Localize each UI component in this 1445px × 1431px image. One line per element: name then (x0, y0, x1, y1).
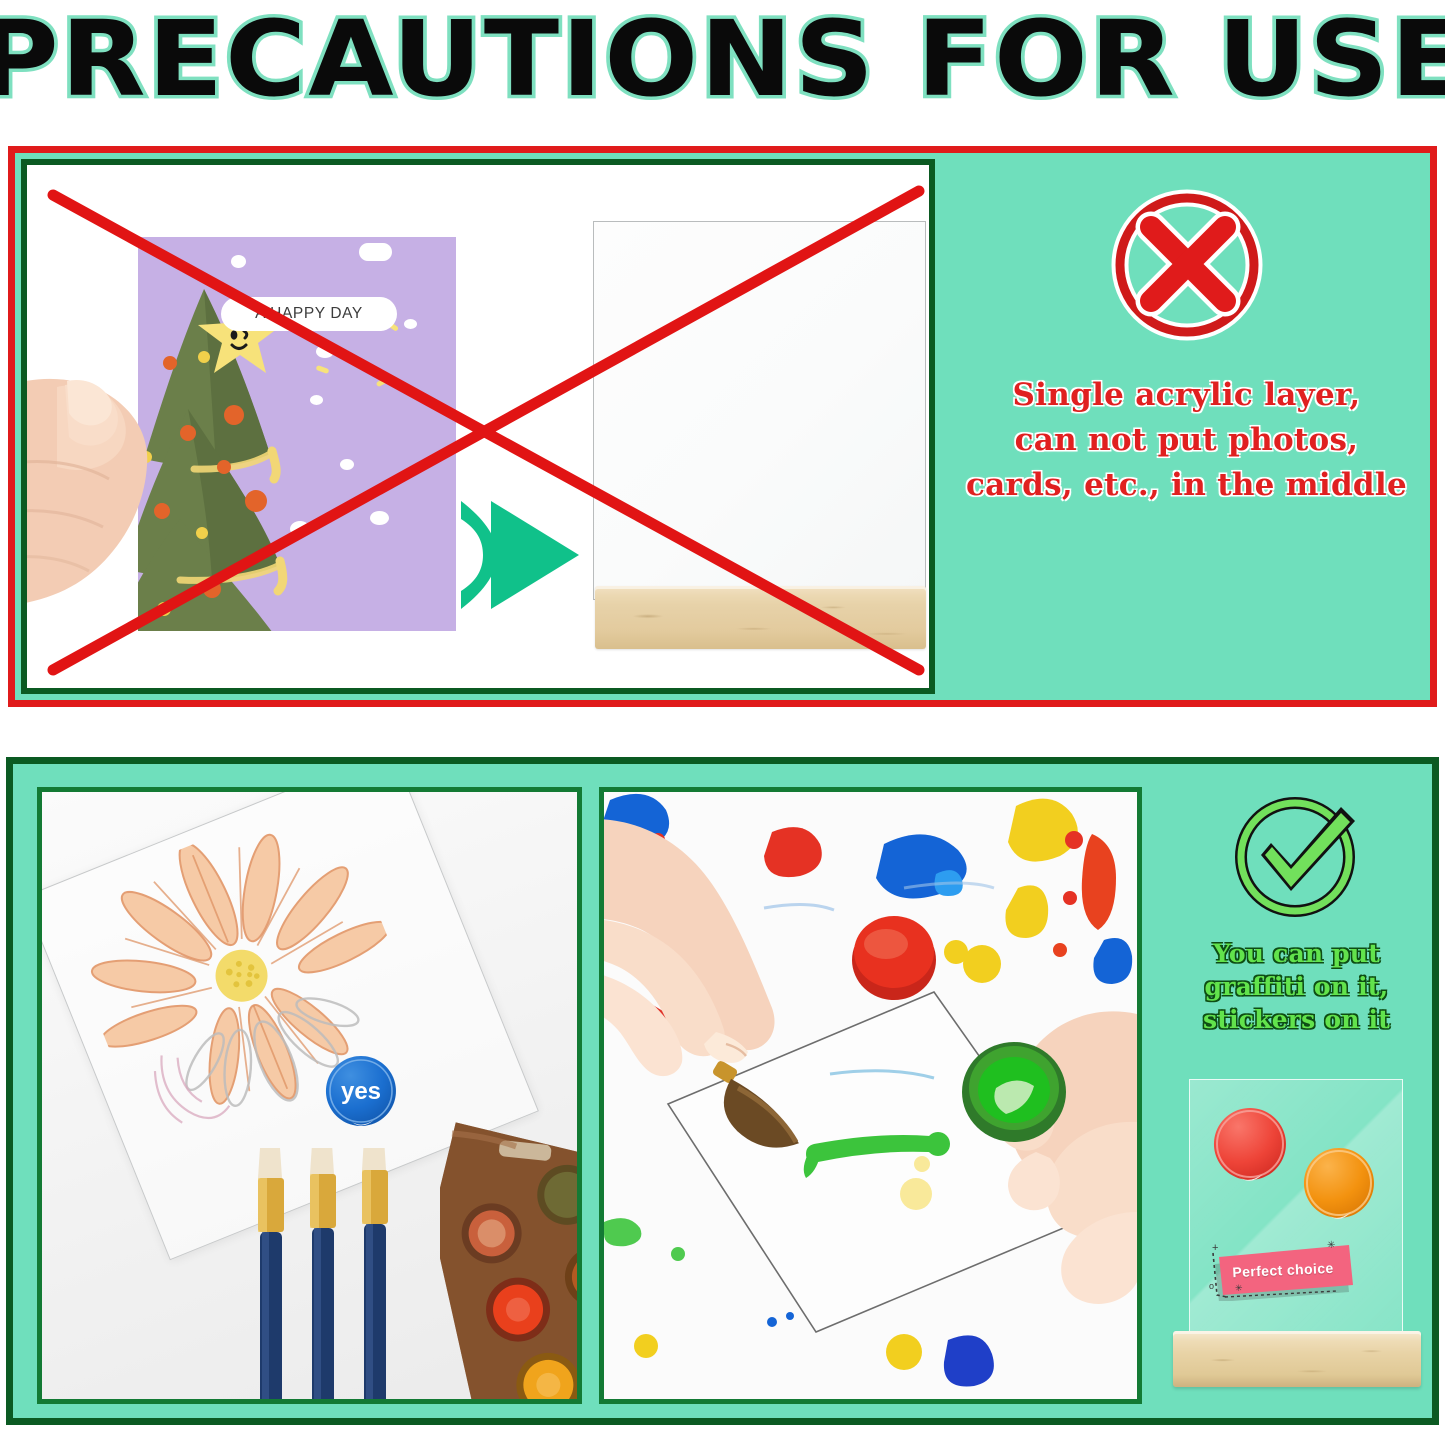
precaution-panel-positive: yes (6, 757, 1439, 1425)
painted-flower-acrylic-photo: yes (37, 787, 582, 1404)
circle-x-icon (1107, 185, 1267, 345)
paint-brushes (238, 1148, 410, 1404)
wooden-base (595, 586, 926, 649)
card-greeting-text: A HAPPY DAY (255, 305, 363, 323)
snowflake (370, 511, 389, 525)
snowflake (290, 521, 310, 537)
card-greeting-banner: A HAPPY DAY (221, 297, 397, 331)
negative-note-block: Single acrylic layer, can not put photos… (941, 159, 1432, 694)
negative-note-line-2: can not put photos, (966, 418, 1407, 463)
negative-note-line-1: Single acrylic layer, (966, 373, 1407, 418)
snowflake (310, 395, 323, 405)
orange-round-sticker (1301, 1145, 1377, 1221)
yes-sticker: yes (324, 1054, 398, 1128)
hand-holding-card (23, 337, 213, 617)
page-title: PRECAUTIONS FOR USE (0, 7, 1445, 111)
sticker-acrylic-stand: + o ✳ ✳ Perfect choice (1173, 1079, 1421, 1399)
negative-note-text: Single acrylic layer, can not put photos… (966, 373, 1407, 508)
negative-example-photo: A HAPPY DAY (21, 159, 935, 694)
positive-note-line-1: You can put (1203, 937, 1390, 970)
star-sparkle (316, 365, 330, 374)
positive-note-line-3: stickers on it (1203, 1003, 1390, 1036)
snowflake (316, 345, 334, 358)
perfect-choice-text: Perfect choice (1208, 1236, 1359, 1304)
left-hand (604, 819, 775, 1076)
hands-painting-photo (599, 787, 1142, 1404)
perfect-choice-sticker: + o ✳ ✳ Perfect choice (1209, 1239, 1357, 1301)
acrylic-sheet (593, 221, 926, 600)
page-header: PRECAUTIONS FOR USE (0, 0, 1445, 118)
positive-note-text: You can put graffiti on it, stickers on … (1203, 937, 1390, 1036)
precaution-panel-negative: A HAPPY DAY (8, 146, 1437, 707)
red-paint-pot (852, 916, 936, 1000)
acrylic-display-stand (593, 221, 926, 649)
snowflake (359, 243, 392, 261)
wooden-base (1173, 1331, 1421, 1387)
painting-scene (604, 792, 1137, 1399)
star-sparkle (376, 376, 392, 387)
snowflake (340, 459, 354, 470)
circle-check-icon (1221, 791, 1373, 931)
right-arrow-icon (461, 495, 591, 615)
snowflake (404, 319, 417, 329)
svg-text:yes: yes (341, 1078, 381, 1105)
red-round-sticker (1211, 1105, 1289, 1183)
watercolor-palette (440, 1110, 582, 1404)
negative-note-line-3: cards, etc., in the middle (966, 463, 1407, 508)
positive-note-line-2: graffiti on it, (1203, 970, 1390, 1003)
snowflake (231, 255, 246, 268)
positive-note-block: You can put graffiti on it, stickers on … (1159, 787, 1434, 1404)
